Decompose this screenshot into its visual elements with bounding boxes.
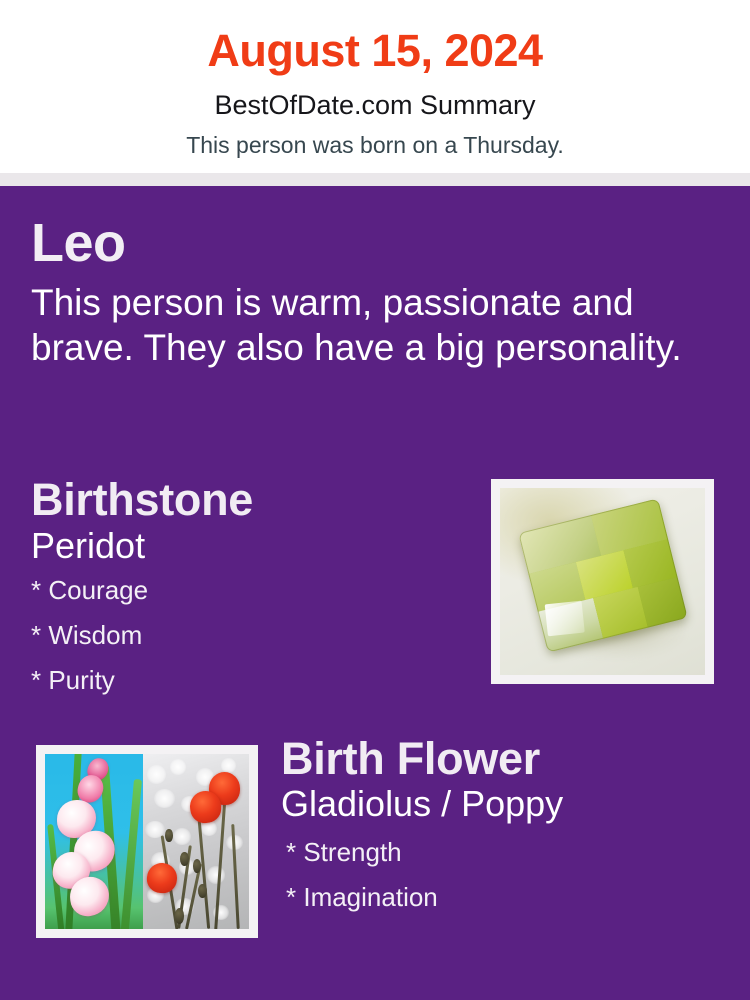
gladiolus-photo-half bbox=[45, 754, 143, 929]
poppy-bloom bbox=[146, 861, 178, 893]
site-name: BestOfDate.com Summary bbox=[0, 73, 750, 119]
birthflower-heading: Birth Flower bbox=[281, 736, 741, 781]
poppy-bud bbox=[180, 852, 188, 866]
birthflower-section: Birth Flower Gladiolus / Poppy * Strengt… bbox=[281, 736, 741, 929]
poppy-bud bbox=[165, 829, 172, 841]
list-item: * Imagination bbox=[286, 884, 741, 910]
flower-stem bbox=[120, 778, 142, 929]
bokeh-light bbox=[221, 758, 236, 774]
birthstone-trait-list: * Courage * Wisdom * Purity bbox=[31, 577, 471, 693]
bokeh-light bbox=[207, 866, 225, 884]
page-title: August 15, 2024 bbox=[0, 0, 750, 73]
poppy-bud bbox=[198, 884, 206, 898]
birthflower-trait-list: * Strength * Imagination bbox=[281, 839, 741, 910]
bokeh-light bbox=[154, 789, 175, 808]
peridot-gemstone-image bbox=[500, 488, 705, 675]
birthstone-section: Birthstone Peridot * Courage * Wisdom * … bbox=[31, 477, 471, 712]
poppy-photo-half bbox=[143, 754, 249, 929]
bokeh-light bbox=[173, 828, 191, 846]
birthflower-image-frame bbox=[36, 745, 258, 938]
header-divider bbox=[0, 173, 750, 186]
zodiac-section: Leo This person is warm, passionate and … bbox=[31, 216, 711, 370]
summary-card: August 15, 2024 BestOfDate.com Summary T… bbox=[0, 0, 750, 1000]
birthstone-heading: Birthstone bbox=[31, 477, 471, 522]
flower-composite bbox=[45, 754, 249, 929]
bokeh-light bbox=[170, 759, 186, 775]
list-item: * Wisdom bbox=[31, 622, 471, 648]
birthstone-image-frame bbox=[491, 479, 714, 684]
list-item: * Courage bbox=[31, 577, 471, 603]
zodiac-description: This person is warm, passionate and brav… bbox=[31, 280, 691, 370]
bokeh-light bbox=[147, 765, 166, 784]
list-item: * Purity bbox=[31, 667, 471, 693]
poppy-bud bbox=[175, 908, 185, 924]
gladiolus-poppy-image bbox=[45, 754, 249, 929]
birth-weekday-text: This person was born on a Thursday. bbox=[0, 119, 750, 157]
birthflower-name: Gladiolus / Poppy bbox=[281, 785, 741, 823]
birthstone-name: Peridot bbox=[31, 527, 471, 565]
list-item: * Strength bbox=[286, 839, 741, 865]
card-header: August 15, 2024 BestOfDate.com Summary T… bbox=[0, 0, 750, 173]
zodiac-sign-name: Leo bbox=[31, 216, 711, 270]
